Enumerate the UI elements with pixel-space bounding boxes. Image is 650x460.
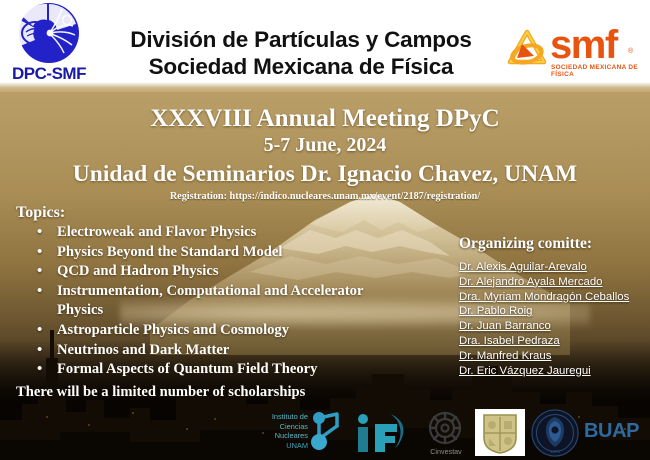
dpc-smf-logo: DPC-SMF bbox=[4, 2, 94, 86]
bullet-icon: • bbox=[37, 223, 42, 243]
conference-poster: DPC-SMF División de Partículas y Campos … bbox=[0, 0, 650, 460]
smf-triangle-knot-icon bbox=[504, 28, 550, 70]
topic-item: •Physics Beyond the Standard Model bbox=[16, 243, 388, 263]
topic-label: Electroweak and Flavor Physics bbox=[57, 224, 256, 240]
instituto-de-fisica-logo bbox=[349, 406, 413, 460]
topic-item: •QCD and Hadron Physics bbox=[16, 262, 388, 282]
smf-logo: smf ® SOCIEDAD MEXICANA DE FÍSICA bbox=[504, 26, 644, 76]
sponsor-logo-bar: Instituto de Ciencias Nucleares UNAM bbox=[0, 406, 650, 460]
bullet-icon: • bbox=[37, 321, 42, 341]
icn-unam-logo: Instituto de Ciencias Nucleares UNAM bbox=[252, 406, 344, 460]
registration-link[interactable]: Registration: https://indico.nucleares.u… bbox=[0, 190, 650, 204]
committee-member[interactable]: Dra. Isabel Pedraza bbox=[459, 334, 647, 349]
shield-icon bbox=[480, 412, 520, 454]
meeting-title: XXXVIII Annual Meeting DPyC bbox=[0, 104, 650, 133]
molecule-icon bbox=[306, 409, 344, 453]
topics-list: •Electroweak and Flavor Physics •Physics… bbox=[16, 223, 388, 380]
topic-label: Astroparticle Physics and Cosmology bbox=[57, 322, 289, 338]
scholarships-note: There will be a limited number of schola… bbox=[16, 384, 416, 401]
icn-line-1: Instituto de bbox=[252, 412, 308, 422]
icn-line-3: Nucleares bbox=[252, 431, 308, 441]
topic-item: •Instrumentation, Computational and Acce… bbox=[16, 282, 388, 321]
topic-item: •Formal Aspects of Quantum Field Theory bbox=[16, 360, 388, 380]
dpc-smf-logo-text: DPC-SMF bbox=[4, 64, 94, 84]
topic-item: •Astroparticle Physics and Cosmology bbox=[16, 321, 388, 341]
topic-label: Physics Beyond the Standard Model bbox=[57, 244, 282, 260]
organizing-committee: Organizing comitte: Dr. Alexis Aguilar-A… bbox=[459, 234, 647, 378]
smf-registered-mark: ® bbox=[628, 48, 633, 55]
bullet-icon: • bbox=[37, 360, 42, 380]
buap-seal-icon: 1578 bbox=[530, 408, 580, 458]
udg-shield-card bbox=[475, 409, 525, 456]
committee-heading: Organizing comitte: bbox=[459, 234, 647, 253]
organization-title-line1: División de Partículas y Campos bbox=[130, 27, 471, 52]
committee-member[interactable]: Dr. Manfred Kraus bbox=[459, 349, 647, 364]
smf-logo-text: smf bbox=[550, 23, 617, 68]
smf-logo-subtitle: SOCIEDAD MEXICANA DE FÍSICA bbox=[551, 64, 644, 78]
meeting-venue: Unidad de Seminarios Dr. Ignacio Chavez,… bbox=[0, 160, 650, 189]
topic-label: Formal Aspects of Quantum Field Theory bbox=[57, 361, 317, 377]
topic-item: •Neutrinos and Dark Matter bbox=[16, 341, 388, 361]
committee-member[interactable]: Dr. Juan Barranco bbox=[459, 319, 647, 334]
icn-unam-logo-text: Instituto de Ciencias Nucleares UNAM bbox=[252, 412, 308, 450]
meeting-info: XXXVIII Annual Meeting DPyC 5-7 June, 20… bbox=[0, 104, 650, 204]
bullet-icon: • bbox=[37, 341, 42, 361]
topic-item: •Electroweak and Flavor Physics bbox=[16, 223, 388, 243]
buap-logo: 1578 BUAP bbox=[530, 406, 648, 460]
committee-member[interactable]: Dr. Alexis Aguilar-Arevalo bbox=[459, 260, 647, 275]
committee-member[interactable]: Dr. Alejandro Ayala Mercado bbox=[459, 275, 647, 290]
particle-collision-icon bbox=[13, 2, 85, 64]
bullet-icon: • bbox=[37, 262, 42, 282]
committee-member[interactable]: Dr. Pablo Roig bbox=[459, 304, 647, 319]
poster-header: DPC-SMF División de Partículas y Campos … bbox=[0, 0, 650, 86]
topics-heading: Topics: bbox=[16, 203, 388, 222]
topics-section: Topics: •Electroweak and Flavor Physics … bbox=[16, 203, 388, 380]
committee-list: Dr. Alexis Aguilar-Arevalo Dr. Alejandro… bbox=[459, 260, 647, 378]
topic-label: QCD and Hadron Physics bbox=[57, 263, 219, 279]
organization-title: División de Partículas y Campos Sociedad… bbox=[96, 26, 506, 80]
udg-shield-logo bbox=[475, 406, 525, 460]
icn-line-2: Ciencias bbox=[252, 422, 308, 432]
topic-label: Neutrinos and Dark Matter bbox=[57, 342, 229, 358]
if-icon bbox=[349, 410, 413, 456]
buap-wordmark: BUAP bbox=[584, 420, 639, 443]
icn-line-4: UNAM bbox=[252, 441, 308, 451]
topic-label: Instrumentation, Computational and Accel… bbox=[57, 283, 363, 319]
svg-text:1578: 1578 bbox=[550, 449, 561, 454]
committee-member[interactable]: Dr. Eric Vázquez Jauregui bbox=[459, 364, 647, 379]
committee-member[interactable]: Dra. Myriam Mondragón Ceballos bbox=[459, 290, 647, 305]
cinvestav-label: Cinvestav bbox=[421, 447, 471, 456]
cinvestav-logo: Cinvestav bbox=[421, 406, 471, 460]
cinvestav-gear-icon bbox=[424, 409, 466, 447]
bullet-icon: • bbox=[37, 243, 42, 263]
organization-title-line2: Sociedad Mexicana de Física bbox=[96, 53, 506, 80]
bullet-icon: • bbox=[37, 282, 42, 302]
meeting-dates: 5-7 June, 2024 bbox=[0, 133, 650, 158]
